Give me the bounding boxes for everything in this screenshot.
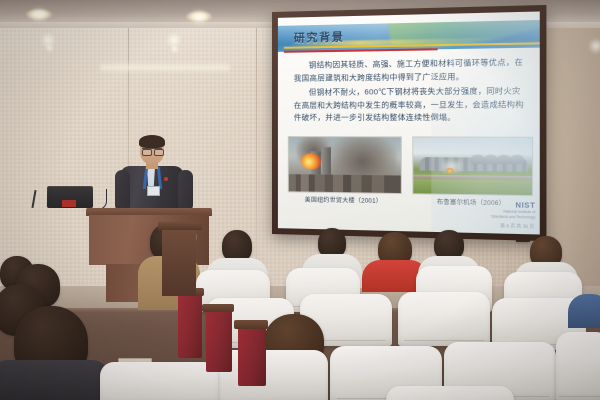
presenter-arm-right — [178, 170, 193, 212]
attendee-shoulders — [568, 294, 600, 328]
seat-armrest — [234, 320, 268, 329]
roof-wave — [484, 154, 498, 164]
laptop-sticker — [62, 200, 76, 207]
auditorium-seat — [178, 292, 202, 358]
roof-wave — [471, 154, 485, 164]
figure-wtc-caption: 美国纽约世贸大楼（2001） — [288, 194, 400, 205]
runway-strip — [413, 175, 532, 181]
nist-subtitle-2: Standards and Technology — [491, 214, 535, 220]
airport-photo — [413, 137, 532, 195]
laptop-cable — [92, 189, 107, 210]
seat-cover — [386, 386, 514, 400]
slide-footer: 第 8 页 共 36 页 — [500, 223, 534, 230]
downlight-icon — [26, 9, 52, 20]
figure-airport-image — [412, 136, 533, 196]
seat-cover — [556, 332, 600, 400]
slide-title: 研究背景 — [294, 28, 345, 45]
figure-wtc: 美国纽约世贸大楼（2001） — [288, 136, 400, 205]
eyeglasses-icon — [142, 148, 162, 154]
wall-sheen — [100, 62, 230, 73]
presenter — [108, 136, 200, 216]
side-table-top — [158, 222, 202, 230]
audience — [0, 236, 600, 400]
figure-airport: 布鲁塞尔机场（2006） — [412, 136, 531, 207]
wall-glare — [169, 45, 180, 53]
roof-wave — [510, 155, 524, 165]
auditorium-seat — [206, 308, 232, 372]
fireball — [446, 168, 453, 174]
lapel-pin-icon — [164, 177, 168, 181]
seat-armrest — [202, 304, 234, 312]
fireball — [301, 153, 321, 169]
presentation-slide: 研究背景 钢结构因其轻质、高强、施工方便和材料可循环等优点，在我国高层建筑和大跨… — [278, 11, 540, 234]
wall-glare — [588, 38, 600, 54]
banner-decoration — [388, 20, 540, 52]
presenter-arm-left — [115, 170, 130, 212]
slide-body-text: 钢结构因其轻质、高强、施工方便和材料可循环等优点，在我国高层建筑和大跨度结构中得… — [294, 56, 524, 127]
roof-wave — [497, 155, 511, 165]
downlight-icon — [186, 11, 212, 22]
presenter-hair — [139, 135, 165, 148]
screen-surface: 研究背景 钢结构因其轻质、高强、施工方便和材料可循环等优点，在我国高层建筑和大跨… — [278, 11, 540, 234]
seat-cover — [398, 292, 490, 346]
wtc-photo — [289, 137, 401, 193]
nist-logo: NIST National Institute of Standards and… — [491, 202, 535, 220]
attendee-shoulders — [0, 360, 110, 400]
slide-paragraph-2: 但钢材不耐火，600℃下钢材将丧失大部分强度，同时火灾在高层和大跨结构中发生的概… — [294, 85, 524, 125]
slide-paragraph-1: 钢结构因其轻质、高强、施工方便和材料可循环等优点，在我国高层建筑和大跨度结构中得… — [294, 56, 524, 85]
projection-screen: 研究背景 钢结构因其轻质、高强、施工方便和材料可循环等优点，在我国高层建筑和大跨… — [272, 5, 546, 241]
wall-glare — [44, 44, 55, 52]
name-badge — [147, 186, 160, 196]
figure-wtc-image — [288, 136, 402, 194]
conference-photo: 研究背景 钢结构因其轻质、高强、施工方便和材料可循环等优点，在我国高层建筑和大跨… — [0, 0, 600, 400]
slide-figures: 美国纽约世贸大楼（2001） — [288, 136, 531, 208]
side-table — [162, 226, 196, 296]
seat-cover — [100, 362, 218, 400]
auditorium-seat — [238, 324, 266, 386]
city-skyline — [289, 174, 401, 193]
